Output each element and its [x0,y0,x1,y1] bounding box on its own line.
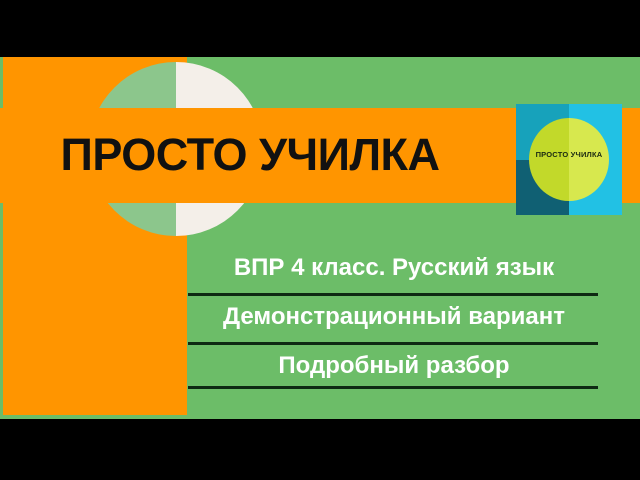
subtitle-text-1: ВПР 4 класс. Русский язык [188,248,600,288]
subtitle-row: Подробный разбор [188,345,600,389]
subtitle-row: ВПР 4 класс. Русский язык [188,247,600,296]
letterbox-bottom [0,419,640,480]
slide-content: ПРОСТО УЧИЛКА ПРОСТО УЧИЛКА ВПР 4 класс.… [0,57,640,419]
subtitle-text-2: Демонстрационный вариант [188,297,600,337]
logo-circle-right-half [569,118,609,201]
brand-logo-badge: ПРОСТО УЧИЛКА [516,104,622,215]
logo-circle-left-half [529,118,569,201]
video-thumbnail: ПРОСТО УЧИЛКА ПРОСТО УЧИЛКА ВПР 4 класс.… [0,0,640,480]
subtitle-row: Демонстрационный вариант [188,296,600,345]
letterbox-top [0,0,640,57]
logo-circle [529,118,609,201]
page-title: ПРОСТО УЧИЛКА [0,113,500,197]
logo-label: ПРОСТО УЧИЛКА [516,150,622,159]
subtitle-list: ВПР 4 класс. Русский язык Демонстрационн… [188,247,600,389]
subtitle-text-3: Подробный разбор [188,346,600,386]
subtitle-divider-3 [188,386,598,389]
